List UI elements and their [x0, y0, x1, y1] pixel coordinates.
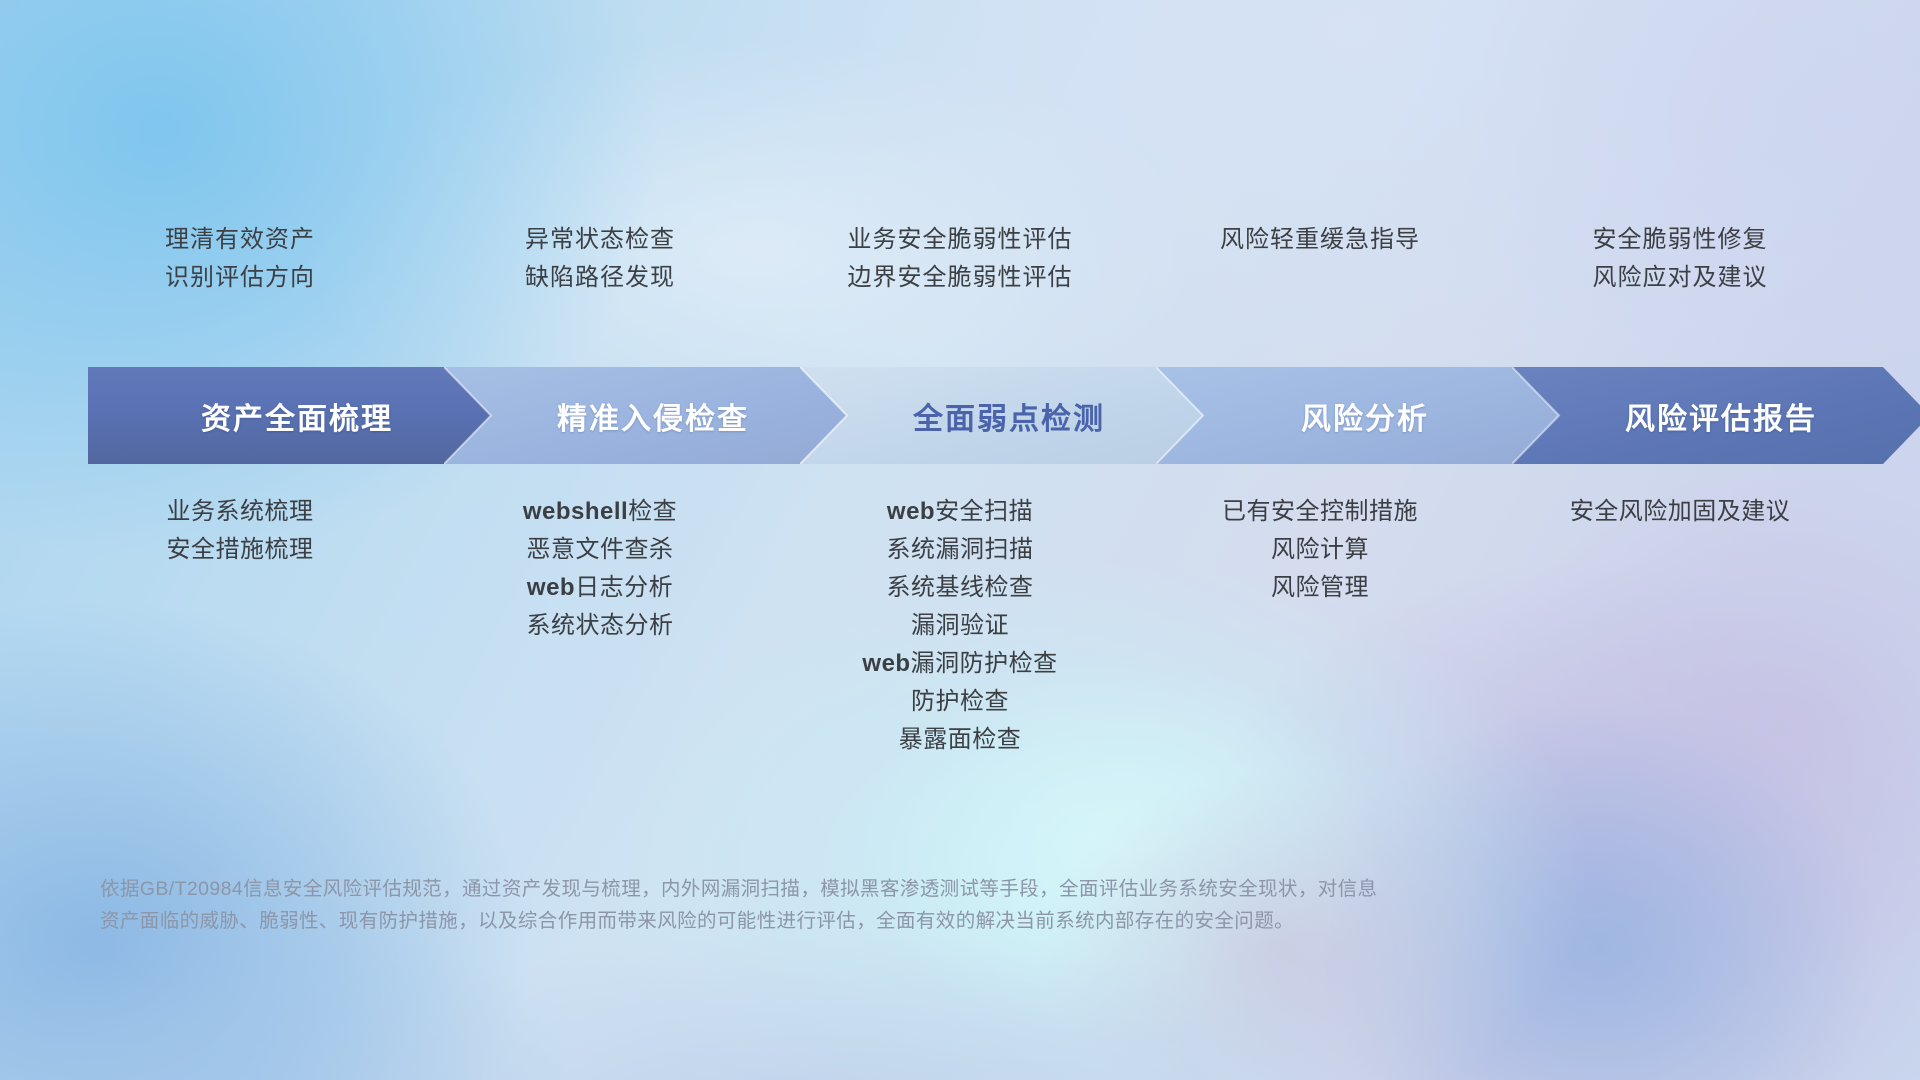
detail-item-text: 日志分析	[575, 574, 673, 601]
bottom-details-stage-3: web安全扫描 系统漏洞扫描 系统基线检查 漏洞验证 web漏洞防护检查 防护检…	[780, 500, 1140, 752]
detail-item-text: 安全扫描	[935, 498, 1033, 525]
top-annotation-item: 缺陷路径发现	[525, 266, 675, 290]
detail-item-text: 漏洞防护检查	[911, 650, 1058, 677]
detail-item: 安全措施梳理	[167, 538, 314, 562]
detail-item: 漏洞验证	[911, 614, 1009, 638]
top-annotations-stage-4: 风险轻重缓急指导	[1140, 228, 1500, 290]
detail-item: web漏洞防护检查	[862, 652, 1057, 676]
detail-item-prefix: web	[527, 574, 575, 601]
detail-item: web安全扫描	[887, 500, 1033, 524]
top-annotation-item: 异常状态检查	[525, 228, 675, 252]
top-annotation-item: 边界安全脆弱性评估	[848, 266, 1073, 290]
bottom-details-row: 业务系统梳理 安全措施梳理 webshell检查 恶意文件查杀 web日志分析 …	[60, 500, 1860, 752]
top-annotations-stage-1: 理清有效资产 识别评估方向	[60, 228, 420, 290]
detail-item: webshell检查	[523, 500, 677, 524]
footer-description: 依据GB/T20984信息安全风险评估规范，通过资产发现与梳理，内外网漏洞扫描，…	[100, 874, 1820, 937]
top-annotation-item: 识别评估方向	[165, 266, 315, 290]
bottom-details-stage-5: 安全风险加固及建议	[1500, 500, 1860, 752]
top-annotations-row: 理清有效资产 识别评估方向 异常状态检查 缺陷路径发现 业务安全脆弱性评估 边界…	[60, 228, 1860, 290]
stage-arrow-label: 全面弱点检测	[913, 394, 1105, 438]
detail-item-prefix: web	[862, 650, 910, 677]
detail-item: 系统漏洞扫描	[887, 538, 1034, 562]
footer-line-2: 资产面临的威胁、脆弱性、现有防护措施，以及综合作用而带来风险的可能性进行评估，全…	[100, 906, 1820, 938]
stage-arrow-band: 资产全面梳理 精准入侵检查	[88, 367, 1848, 464]
stage-arrow-5[interactable]: 风险评估报告	[1512, 367, 1920, 464]
detail-item: 安全风险加固及建议	[1570, 500, 1791, 524]
detail-item: 暴露面检查	[899, 728, 1022, 752]
top-annotation-item: 业务安全脆弱性评估	[848, 228, 1073, 252]
top-annotations-stage-2: 异常状态检查 缺陷路径发现	[420, 228, 780, 290]
top-annotations-stage-3: 业务安全脆弱性评估 边界安全脆弱性评估	[780, 228, 1140, 290]
top-annotation-item: 理清有效资产	[165, 228, 315, 252]
detail-item: 系统基线检查	[887, 576, 1034, 600]
detail-item-text: 检查	[628, 498, 677, 525]
bottom-details-stage-1: 业务系统梳理 安全措施梳理	[60, 500, 420, 752]
bottom-details-stage-2: webshell检查 恶意文件查杀 web日志分析 系统状态分析	[420, 500, 780, 752]
stage-arrow-label: 资产全面梳理	[201, 394, 393, 438]
detail-item: 风险计算	[1271, 538, 1369, 562]
stage-arrow-label: 风险评估报告	[1625, 394, 1817, 438]
detail-item: 风险管理	[1271, 576, 1369, 600]
detail-item-prefix: webshell	[523, 498, 628, 525]
top-annotation-item: 风险轻重缓急指导	[1220, 228, 1420, 252]
stage-arrow-label: 风险分析	[1301, 394, 1429, 438]
stage-arrow-label: 精准入侵检查	[557, 394, 749, 438]
detail-item: 业务系统梳理	[167, 500, 314, 524]
top-annotations-stage-5: 安全脆弱性修复 风险应对及建议	[1500, 228, 1860, 290]
bottom-details-stage-4: 已有安全控制措施 风险计算 风险管理	[1140, 500, 1500, 752]
detail-item-prefix: web	[887, 498, 935, 525]
top-annotation-item: 安全脆弱性修复	[1593, 228, 1768, 252]
footer-line-1: 依据GB/T20984信息安全风险评估规范，通过资产发现与梳理，内外网漏洞扫描，…	[100, 874, 1820, 906]
process-diagram: 理清有效资产 识别评估方向 异常状态检查 缺陷路径发现 业务安全脆弱性评估 边界…	[0, 0, 1920, 1080]
detail-item: 恶意文件查杀	[527, 538, 674, 562]
detail-item: 已有安全控制措施	[1222, 500, 1418, 524]
detail-item: 系统状态分析	[527, 614, 674, 638]
detail-item: 防护检查	[911, 690, 1009, 714]
top-annotation-item: 风险应对及建议	[1593, 266, 1768, 290]
detail-item: web日志分析	[527, 576, 673, 600]
